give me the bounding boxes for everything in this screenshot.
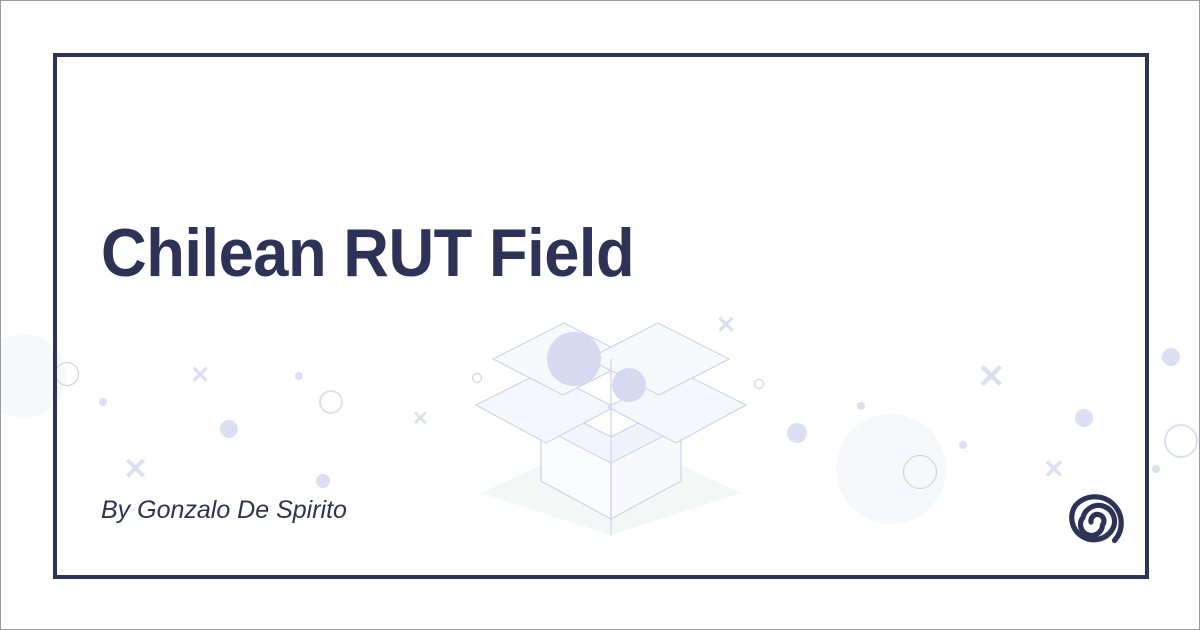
page-title: Chilean RUT Field xyxy=(101,217,634,290)
card-content: Chilean RUT Field By Gonzalo De Spirito xyxy=(1,1,1199,629)
share-card: ✕ ✕ ✕ ✕ ✕ ✕ xyxy=(0,0,1200,630)
spiral-logo-icon xyxy=(1063,492,1129,558)
author-byline: By Gonzalo De Spirito xyxy=(101,496,347,525)
